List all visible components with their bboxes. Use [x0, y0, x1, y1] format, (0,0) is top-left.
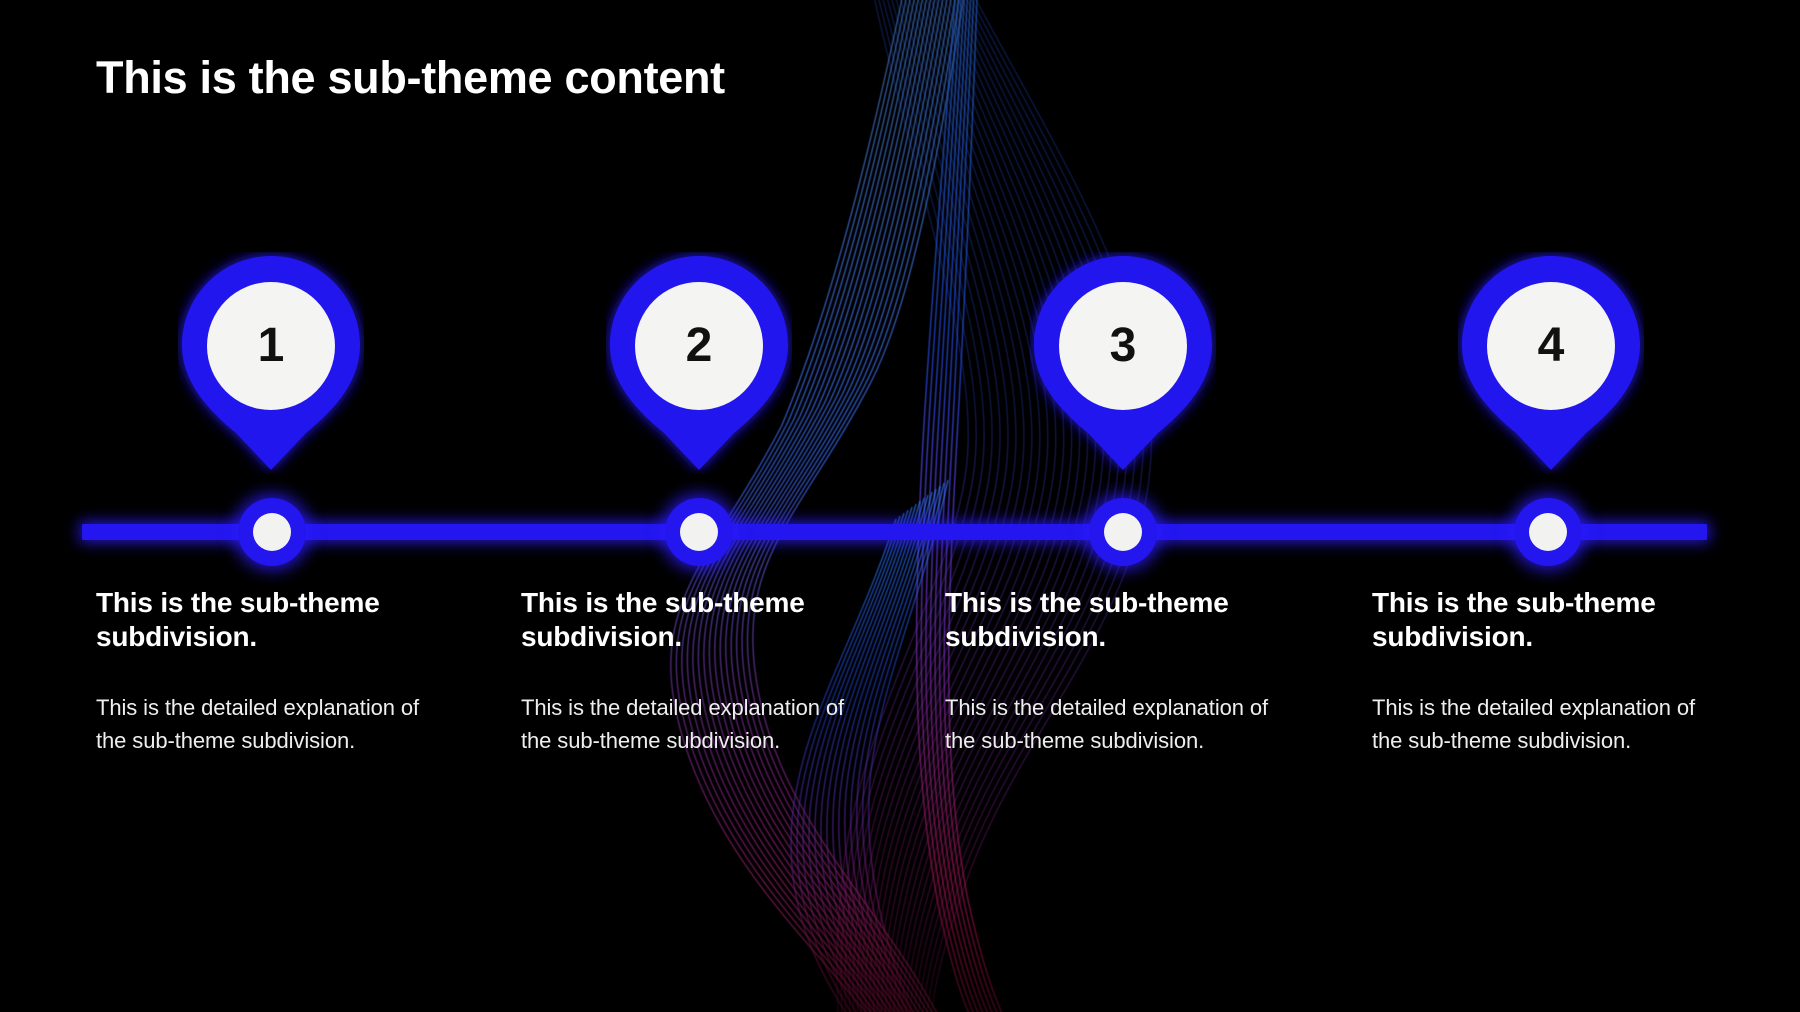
step-heading-3: This is the sub-theme subdivision.: [945, 586, 1297, 654]
timeline-node-core: [680, 513, 718, 551]
timeline-node-1[interactable]: [238, 498, 306, 566]
step-pin-2[interactable]: 2: [606, 252, 792, 474]
step-number-1: 1: [178, 282, 364, 410]
timeline-node-3[interactable]: [1089, 498, 1157, 566]
step-pin-1[interactable]: 1: [178, 252, 364, 474]
step-body-2: This is the detailed explanation of the …: [521, 692, 873, 757]
timeline-node-4[interactable]: [1514, 498, 1582, 566]
step-body-4: This is the detailed explanation of the …: [1372, 692, 1724, 757]
slide-canvas: This is the sub-theme content 1: [0, 0, 1800, 1012]
step-pin-3[interactable]: 3: [1030, 252, 1216, 474]
timeline-node-2[interactable]: [665, 498, 733, 566]
step-body-1: This is the detailed explanation of the …: [96, 692, 448, 757]
step-column-1: This is the sub-theme subdivision. This …: [96, 586, 448, 757]
step-body-3: This is the detailed explanation of the …: [945, 692, 1297, 757]
timeline-axis: [82, 524, 1707, 540]
timeline-node-core: [1104, 513, 1142, 551]
step-heading-4: This is the sub-theme subdivision.: [1372, 586, 1724, 654]
page-title: This is the sub-theme content: [96, 52, 725, 104]
step-number-2: 2: [606, 282, 792, 410]
step-column-4: This is the sub-theme subdivision. This …: [1372, 586, 1724, 757]
step-number-4: 4: [1458, 282, 1644, 410]
step-heading-1: This is the sub-theme subdivision.: [96, 586, 448, 654]
timeline-node-core: [253, 513, 291, 551]
timeline-node-core: [1529, 513, 1567, 551]
step-heading-2: This is the sub-theme subdivision.: [521, 586, 873, 654]
step-column-2: This is the sub-theme subdivision. This …: [521, 586, 873, 757]
step-pin-4[interactable]: 4: [1458, 252, 1644, 474]
step-column-3: This is the sub-theme subdivision. This …: [945, 586, 1297, 757]
step-number-3: 3: [1030, 282, 1216, 410]
